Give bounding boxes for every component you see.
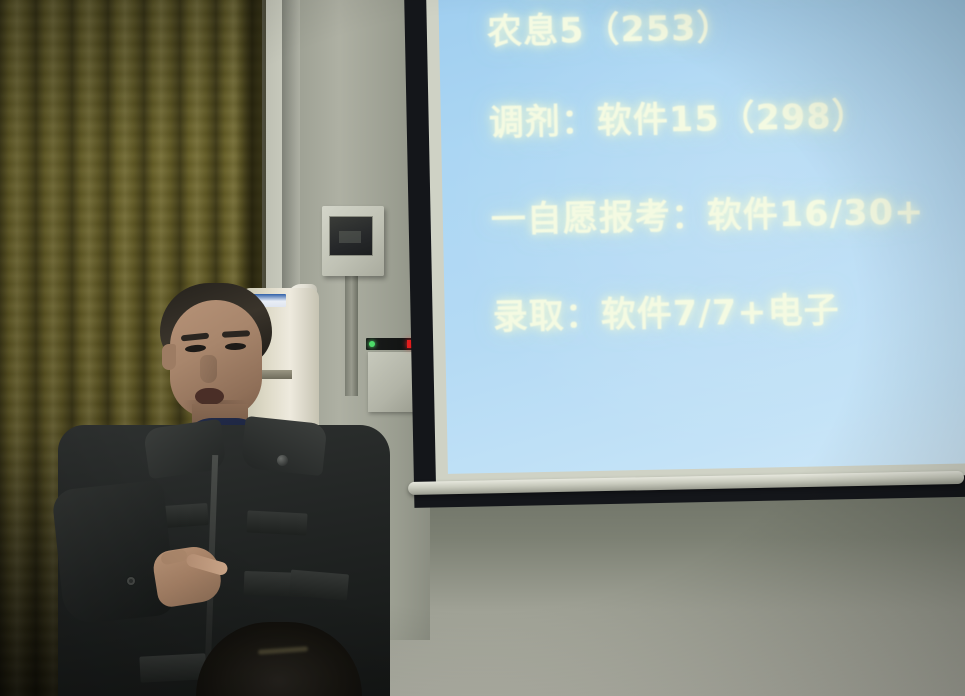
presenter-ear [162,344,176,370]
presenter-sleeve [51,480,176,626]
lecture-photo-scene: 一自愿：软件7（292） 农息5（253） 调剂：软件15（298） 一自愿报考… [0,0,965,696]
presenter [0,0,965,696]
jacket-chest-pocket-right [246,510,307,535]
jacket-side-pocket-right [289,570,349,601]
jacket-side-pocket-left [139,653,206,682]
jacket-collar-right [241,416,328,476]
presenter-nose [200,355,217,383]
jacket-collar-button [277,455,288,466]
jacket-cuff-button [127,577,135,585]
